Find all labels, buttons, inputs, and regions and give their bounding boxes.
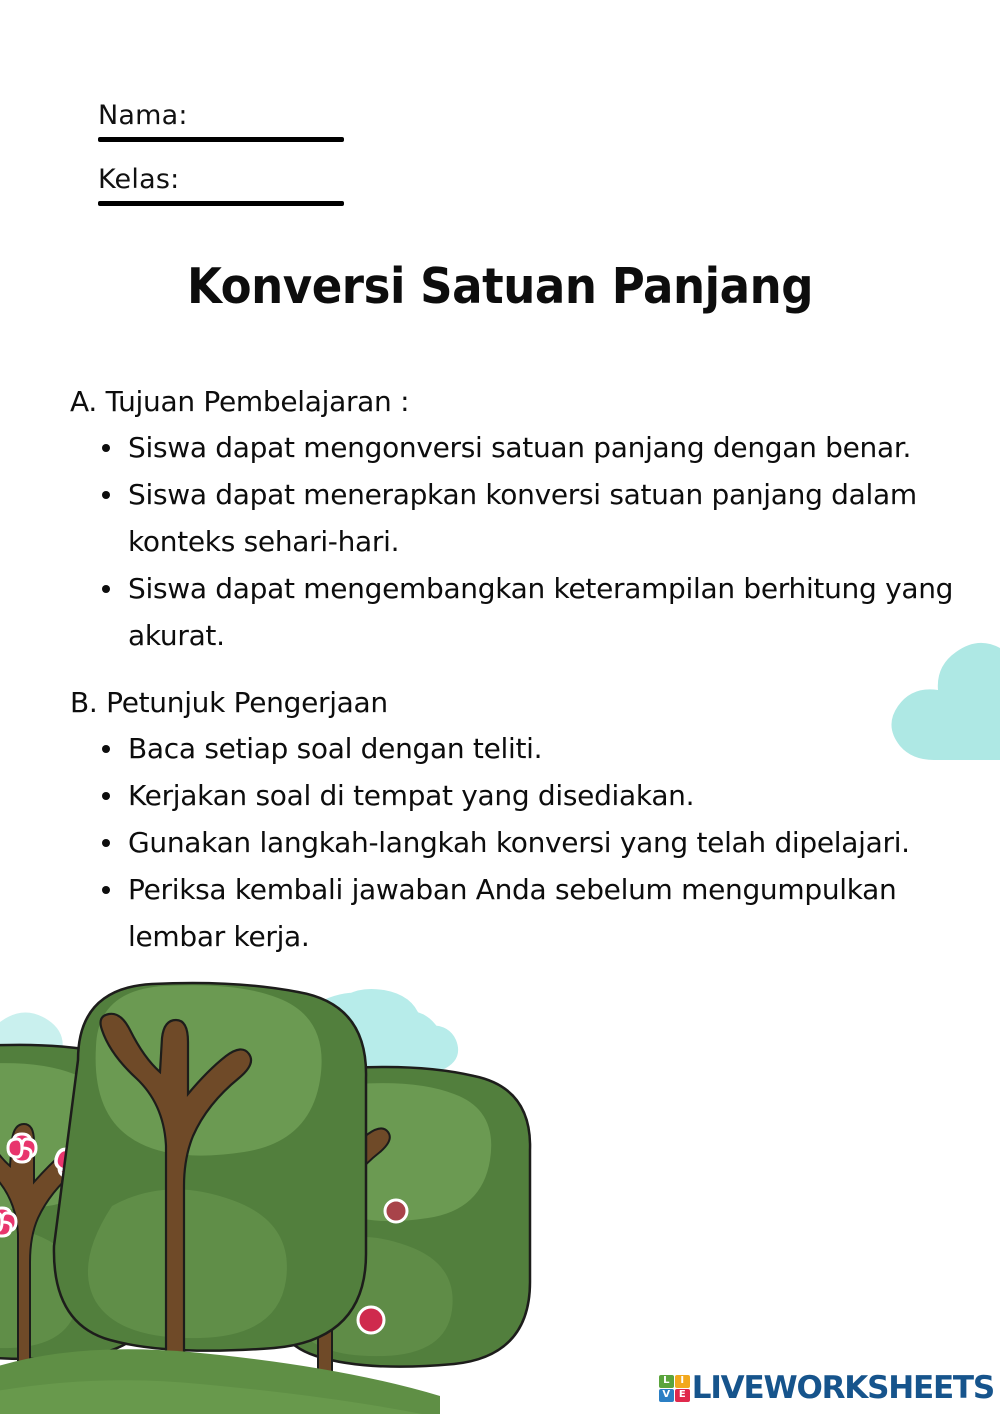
list-item-text: Baca setiap soal dengan teliti. bbox=[128, 732, 542, 765]
class-field-rule[interactable] bbox=[98, 201, 344, 206]
page-title: Konversi Satuan Panjang bbox=[40, 258, 960, 315]
list-item-text: Siswa dapat mengembangkan keterampilan b… bbox=[128, 572, 953, 652]
tree-center bbox=[54, 983, 366, 1414]
worksheet-content: A. Tujuan Pembelajaran : Siswa dapat men… bbox=[70, 380, 1000, 982]
tree-right bbox=[261, 1067, 530, 1414]
cloud-left-edge bbox=[0, 1012, 87, 1098]
section-heading: A. Tujuan Pembelajaran : bbox=[70, 380, 1000, 424]
liveworksheets-wordmark: LIVEWORKSHEETS bbox=[692, 1370, 994, 1406]
section-petunjuk-pengerjaan: B. Petunjuk Pengerjaan Baca setiap soal … bbox=[70, 681, 1000, 960]
class-field-label: Kelas: bbox=[98, 160, 344, 200]
name-field-row[interactable]: Nama: bbox=[98, 96, 344, 142]
list-item: Siswa dapat menerapkan konversi satuan p… bbox=[70, 471, 1000, 565]
list-item: Siswa dapat mengonversi satuan panjang d… bbox=[70, 424, 1000, 471]
worksheet-page: Nama: Kelas: Konversi Satuan Panjang A. … bbox=[0, 0, 1000, 1414]
logo-tile-i: I bbox=[675, 1375, 690, 1388]
name-field-label: Nama: bbox=[98, 96, 344, 136]
logo-tile-e: E bbox=[675, 1389, 690, 1402]
list-item-text: Gunakan langkah-langkah konversi yang te… bbox=[128, 826, 910, 859]
cloud-mid bbox=[298, 993, 444, 1127]
bullet-dot-icon bbox=[102, 745, 110, 753]
list-item-text: Kerjakan soal di tempat yang disediakan. bbox=[128, 779, 694, 812]
liveworksheets-logo-mark: L I V E bbox=[659, 1375, 690, 1402]
list-item-text: Periksa kembali jawaban Anda sebelum men… bbox=[128, 873, 896, 953]
flower-cluster-left bbox=[0, 1134, 92, 1268]
list-item-text: Siswa dapat mengonversi satuan panjang d… bbox=[128, 431, 911, 464]
section-tujuan-pembelajaran: A. Tujuan Pembelajaran : Siswa dapat men… bbox=[70, 380, 1000, 659]
logo-tile-l: L bbox=[659, 1375, 674, 1388]
list-item: Siswa dapat mengembangkan keterampilan b… bbox=[70, 565, 1000, 659]
bullet-dot-icon bbox=[102, 491, 110, 499]
bullet-dot-icon bbox=[102, 839, 110, 847]
list-item: Kerjakan soal di tempat yang disediakan. bbox=[70, 772, 1000, 819]
section-heading: B. Petunjuk Pengerjaan bbox=[70, 681, 1000, 725]
list-item: Periksa kembali jawaban Anda sebelum men… bbox=[70, 866, 1000, 960]
section-bullet-list: Baca setiap soal dengan teliti. Kerjakan… bbox=[70, 725, 1000, 960]
bullet-dot-icon bbox=[102, 444, 110, 452]
tree-left bbox=[0, 1045, 162, 1414]
liveworksheets-logo[interactable]: L I V E LIVEWORKSHEETS bbox=[659, 1370, 994, 1406]
class-field-row[interactable]: Kelas: bbox=[98, 160, 344, 206]
ground-hill bbox=[0, 1349, 440, 1414]
bullet-dot-icon bbox=[102, 886, 110, 894]
fruit-cluster-right bbox=[284, 1122, 407, 1333]
list-item: Gunakan langkah-langkah konversi yang te… bbox=[70, 819, 1000, 866]
list-item-text: Siswa dapat menerapkan konversi satuan p… bbox=[128, 478, 917, 558]
bullet-dot-icon bbox=[102, 585, 110, 593]
cloud-upper-right-of-tree bbox=[330, 989, 458, 1070]
name-field-rule[interactable] bbox=[98, 137, 344, 142]
bullet-dot-icon bbox=[102, 792, 110, 800]
logo-tile-v: V bbox=[659, 1389, 674, 1402]
list-item: Baca setiap soal dengan teliti. bbox=[70, 725, 1000, 772]
student-info-fields: Nama: Kelas: bbox=[98, 96, 344, 224]
section-bullet-list: Siswa dapat mengonversi satuan panjang d… bbox=[70, 424, 1000, 659]
